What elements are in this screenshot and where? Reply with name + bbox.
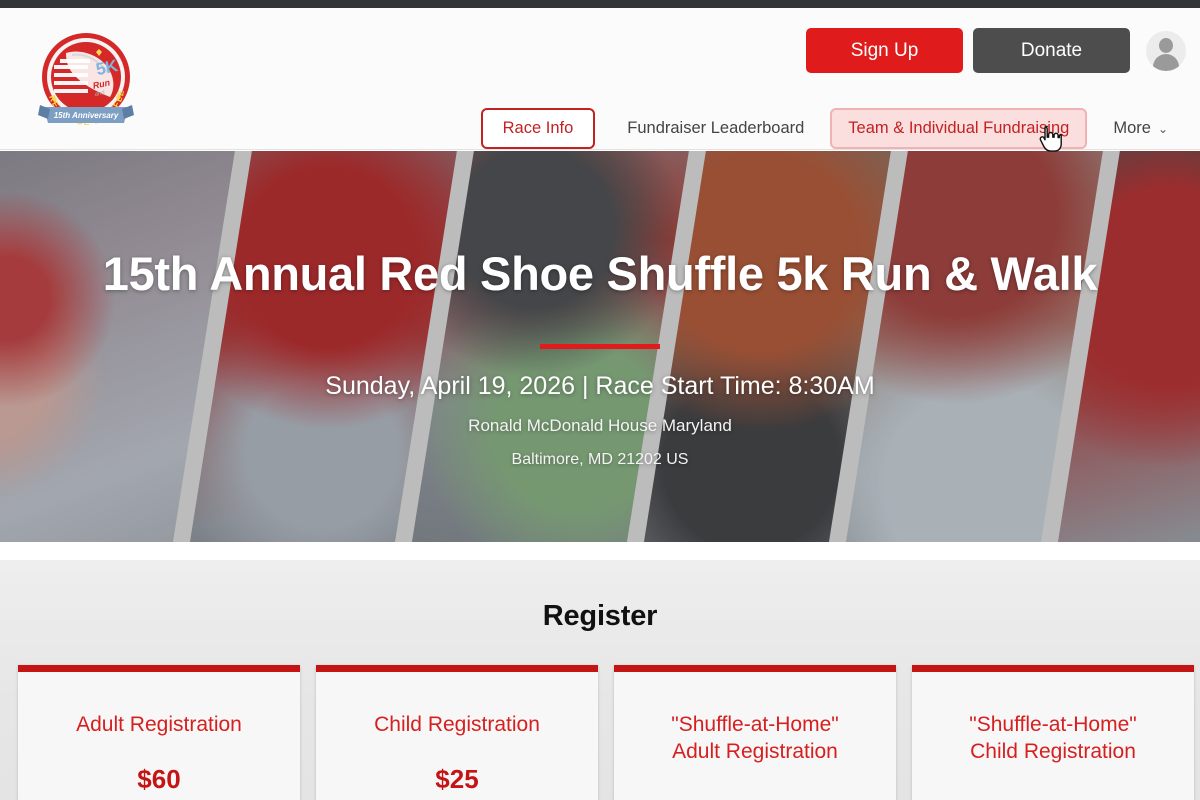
avatar-head-icon (1159, 38, 1173, 53)
register-heading: Register (0, 560, 1200, 633)
chevron-down-icon: ⌄ (1158, 122, 1168, 136)
nav-label-fundraiser-leaderboard: Fundraiser Leaderboard (627, 119, 804, 138)
register-card-title: Adult Registration (32, 712, 286, 739)
site-header: 5K Run and Walk RED SHOE SHUFFLE 15th An… (0, 8, 1200, 150)
hero-venue: Ronald McDonald House Maryland (468, 416, 732, 436)
register-card-title: "Shuffle-at-Home" Adult Registration (628, 712, 882, 766)
svg-text:15th Anniversary: 15th Anniversary (54, 111, 119, 120)
nav-item-race-info[interactable]: Race Info (481, 108, 596, 149)
sign-up-button[interactable]: Sign Up (806, 28, 963, 73)
nav-item-more[interactable]: More ⌄ (1095, 108, 1186, 149)
primary-nav: Race Info Fundraiser Leaderboard Team & … (481, 108, 1186, 149)
hero-date-time: Sunday, April 19, 2026 | Race Start Time… (325, 372, 874, 401)
hero-text-block: 15th Annual Red Shoe Shuffle 5k Run & Wa… (0, 151, 1200, 542)
register-section: Register Adult Registration $60 Child Re… (0, 560, 1200, 800)
account-avatar[interactable] (1146, 31, 1186, 71)
nav-label-more: More (1113, 119, 1151, 138)
register-card-title: "Shuffle-at-Home" Child Registration (926, 712, 1180, 766)
register-card-shuffle-at-home-child[interactable]: "Shuffle-at-Home" Child Registration (912, 665, 1194, 800)
register-card-shuffle-at-home-adult[interactable]: "Shuffle-at-Home" Adult Registration (614, 665, 896, 800)
top-dark-bar (0, 0, 1200, 8)
red-shoe-shuffle-logo[interactable]: 5K Run and Walk RED SHOE SHUFFLE 15th An… (30, 25, 142, 137)
hero-title: 15th Annual Red Shoe Shuffle 5k Run & Wa… (103, 249, 1098, 298)
register-card-adult[interactable]: Adult Registration $60 (18, 665, 300, 800)
register-card-child[interactable]: Child Registration $25 (316, 665, 598, 800)
nav-item-team-individual-fundraising[interactable]: Team & Individual Fundraising (830, 108, 1087, 149)
hero-banner: 15th Annual Red Shoe Shuffle 5k Run & Wa… (0, 151, 1200, 542)
hero-address: Baltimore, MD 21202 US (512, 451, 689, 469)
header-actions: Sign Up Donate (806, 28, 1186, 73)
nav-label-team-individual-fundraising: Team & Individual Fundraising (848, 119, 1069, 138)
donate-button[interactable]: Donate (973, 28, 1130, 73)
register-card-list: Adult Registration $60 Child Registratio… (18, 665, 1194, 800)
page-root: 5K Run and Walk RED SHOE SHUFFLE 15th An… (0, 0, 1200, 800)
logo-graphic: 5K Run and Walk RED SHOE SHUFFLE 15th An… (30, 25, 142, 137)
register-card-price: $25 (330, 764, 584, 795)
nav-item-fundraiser-leaderboard[interactable]: Fundraiser Leaderboard (609, 108, 822, 149)
register-card-price: $60 (32, 764, 286, 795)
nav-label-race-info: Race Info (503, 119, 574, 138)
register-card-title: Child Registration (330, 712, 584, 739)
avatar-body-icon (1153, 54, 1179, 71)
hero-accent-rule (540, 344, 660, 349)
